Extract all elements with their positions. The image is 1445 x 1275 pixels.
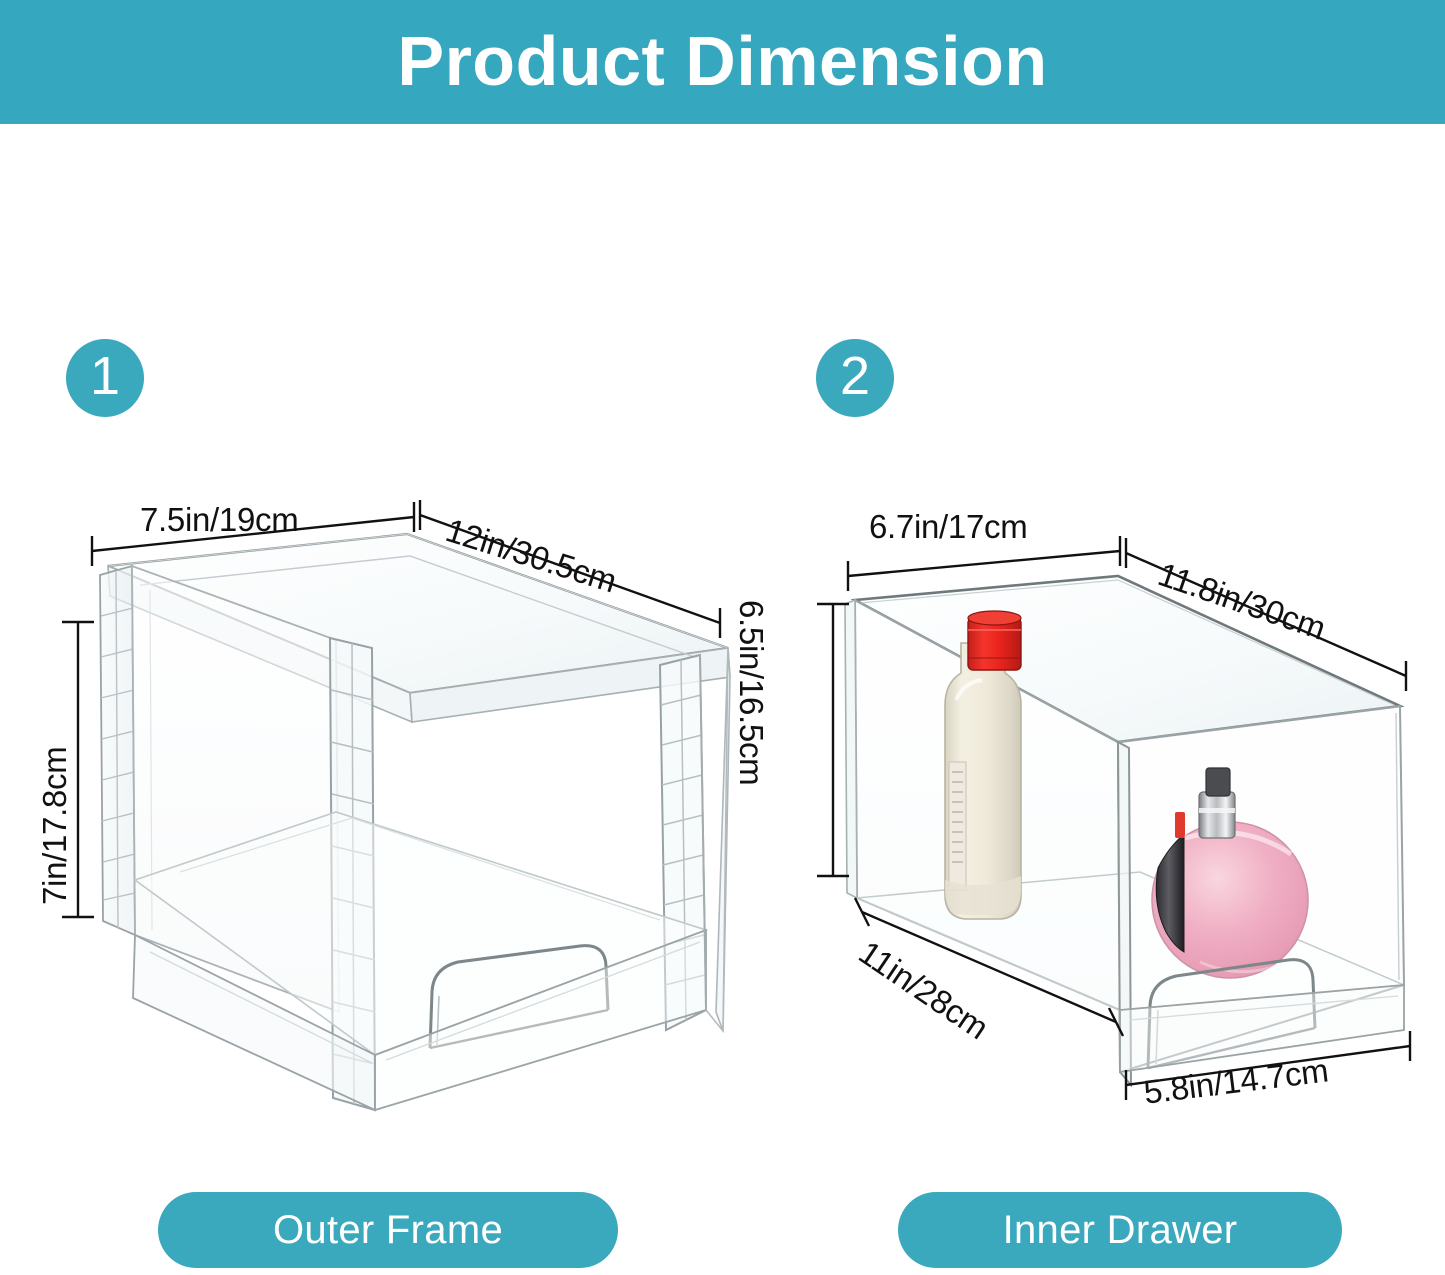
inner-drawer-right-wall	[1118, 706, 1404, 1072]
dimension-label-inner-width: 6.7in/17cm	[869, 510, 1027, 543]
dimension-label-inner-front-width: 5.8in/14.7cm	[1142, 1053, 1330, 1108]
inner-drawer-front-wall	[1118, 742, 1131, 1085]
badge-number-1: 1	[66, 339, 144, 417]
perfume-bottle-ribbon	[1156, 834, 1184, 952]
soap-bottle-red-cap	[968, 618, 1021, 670]
inner-drawer-top-rim	[855, 576, 1400, 742]
dimension-label-outer-height: 7in/17.8cm	[38, 747, 71, 905]
perfume-bottle-body	[1152, 822, 1308, 978]
badge-number-2-label: 2	[840, 349, 870, 403]
dim-line-width-2	[848, 551, 1120, 576]
inner-drawer-handle	[1148, 960, 1315, 1068]
soap-bottle-label-lines	[952, 772, 963, 862]
caption-outer-frame: Outer Frame	[158, 1192, 618, 1268]
caption-outer-frame-label: Outer Frame	[273, 1208, 503, 1253]
outer-frame-illustration	[100, 534, 730, 1110]
perfume-bottle-red-accent	[1175, 812, 1185, 838]
badge-number-2: 2	[816, 339, 894, 417]
outer-frame-back-edge	[716, 648, 730, 1031]
outer-frame-dimension-lines	[62, 500, 720, 917]
dimension-label-outer-depth: 12in/30.5cm	[442, 513, 620, 598]
outer-frame-center-pillar	[330, 638, 375, 1110]
outer-frame-top-lid	[108, 534, 730, 722]
perfume-bottle-nozzle	[1206, 768, 1230, 796]
outer-frame-handle	[430, 946, 608, 1048]
dimension-label-inner-side-depth: 11in/28cm	[854, 935, 994, 1045]
dimension-label-outer-width: 7.5in/19cm	[140, 503, 298, 536]
soap-bottle-body	[945, 643, 1021, 919]
caption-inner-drawer-label: Inner Drawer	[1003, 1208, 1238, 1253]
badge-number-1-label: 1	[90, 349, 120, 403]
inner-drawer-left-edge	[845, 600, 857, 898]
header-banner: Product Dimension	[0, 0, 1445, 124]
soap-bottle	[945, 611, 1021, 919]
perfume-bottle-atomizer	[1199, 792, 1235, 838]
outer-frame-base	[133, 930, 706, 1110]
dimension-label-inner-height: 6.5in/16.5cm	[735, 600, 768, 785]
soap-bottle-label	[949, 762, 966, 890]
page-title: Product Dimension	[397, 26, 1047, 96]
perfume-bottle	[1152, 768, 1308, 978]
outer-frame-left-side-panel	[100, 566, 135, 935]
dimension-label-inner-depth: 11.8in/30cm	[1154, 557, 1329, 645]
outer-frame-left-face	[132, 566, 339, 1012]
caption-inner-drawer: Inner Drawer	[898, 1192, 1342, 1268]
outer-frame-floor	[135, 812, 706, 1055]
outer-frame-right-pillar	[660, 655, 706, 1030]
